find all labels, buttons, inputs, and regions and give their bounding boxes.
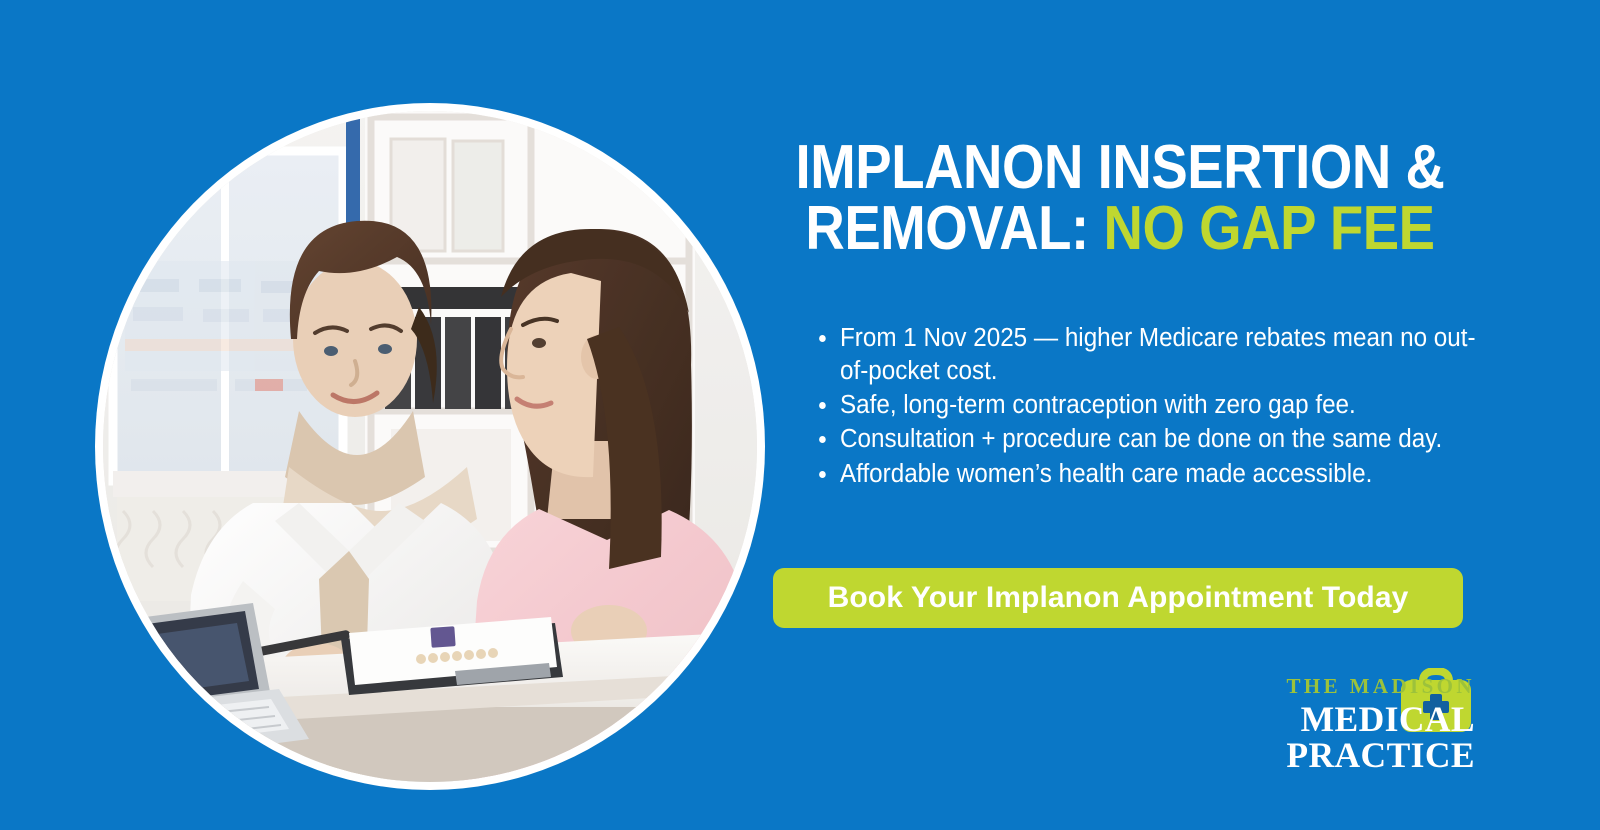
headline-line-1: IMPLANON INSERTION & <box>796 133 1445 202</box>
book-appointment-button[interactable]: Book Your Implanon Appointment Today <box>773 568 1463 628</box>
list-item: Affordable women’s health care made acce… <box>840 458 1496 491</box>
benefits-list: From 1 Nov 2025 — higher Medicare rebate… <box>802 322 1530 492</box>
headline-line-2-accent: NO GAP FEE <box>1104 194 1435 263</box>
logo-line-1: THE MADISON <box>1165 676 1475 697</box>
promo-banner: IMPLANON INSERTION & REMOVAL: NO GAP FEE… <box>0 0 1600 830</box>
photo-illustration <box>103 111 757 782</box>
list-item: Safe, long-term contraception with zero … <box>840 389 1496 422</box>
logo-wordmark: THE MADISON MEDICAL PRACTICE <box>1165 676 1475 773</box>
brand-logo: THE MADISON MEDICAL PRACTICE <box>1165 668 1475 773</box>
circular-photo-frame <box>95 103 765 790</box>
consultation-photo <box>103 111 757 782</box>
logo-line-2: MEDICAL PRACTICE <box>1165 702 1475 773</box>
content-column: IMPLANON INSERTION & REMOVAL: NO GAP FEE… <box>750 0 1490 830</box>
page-title: IMPLANON INSERTION & REMOVAL: NO GAP FEE <box>794 138 1445 260</box>
list-item: From 1 Nov 2025 — higher Medicare rebate… <box>840 322 1496 388</box>
list-item: Consultation + procedure can be done on … <box>840 423 1496 456</box>
headline-line-2-plain: REMOVAL: <box>805 194 1088 263</box>
